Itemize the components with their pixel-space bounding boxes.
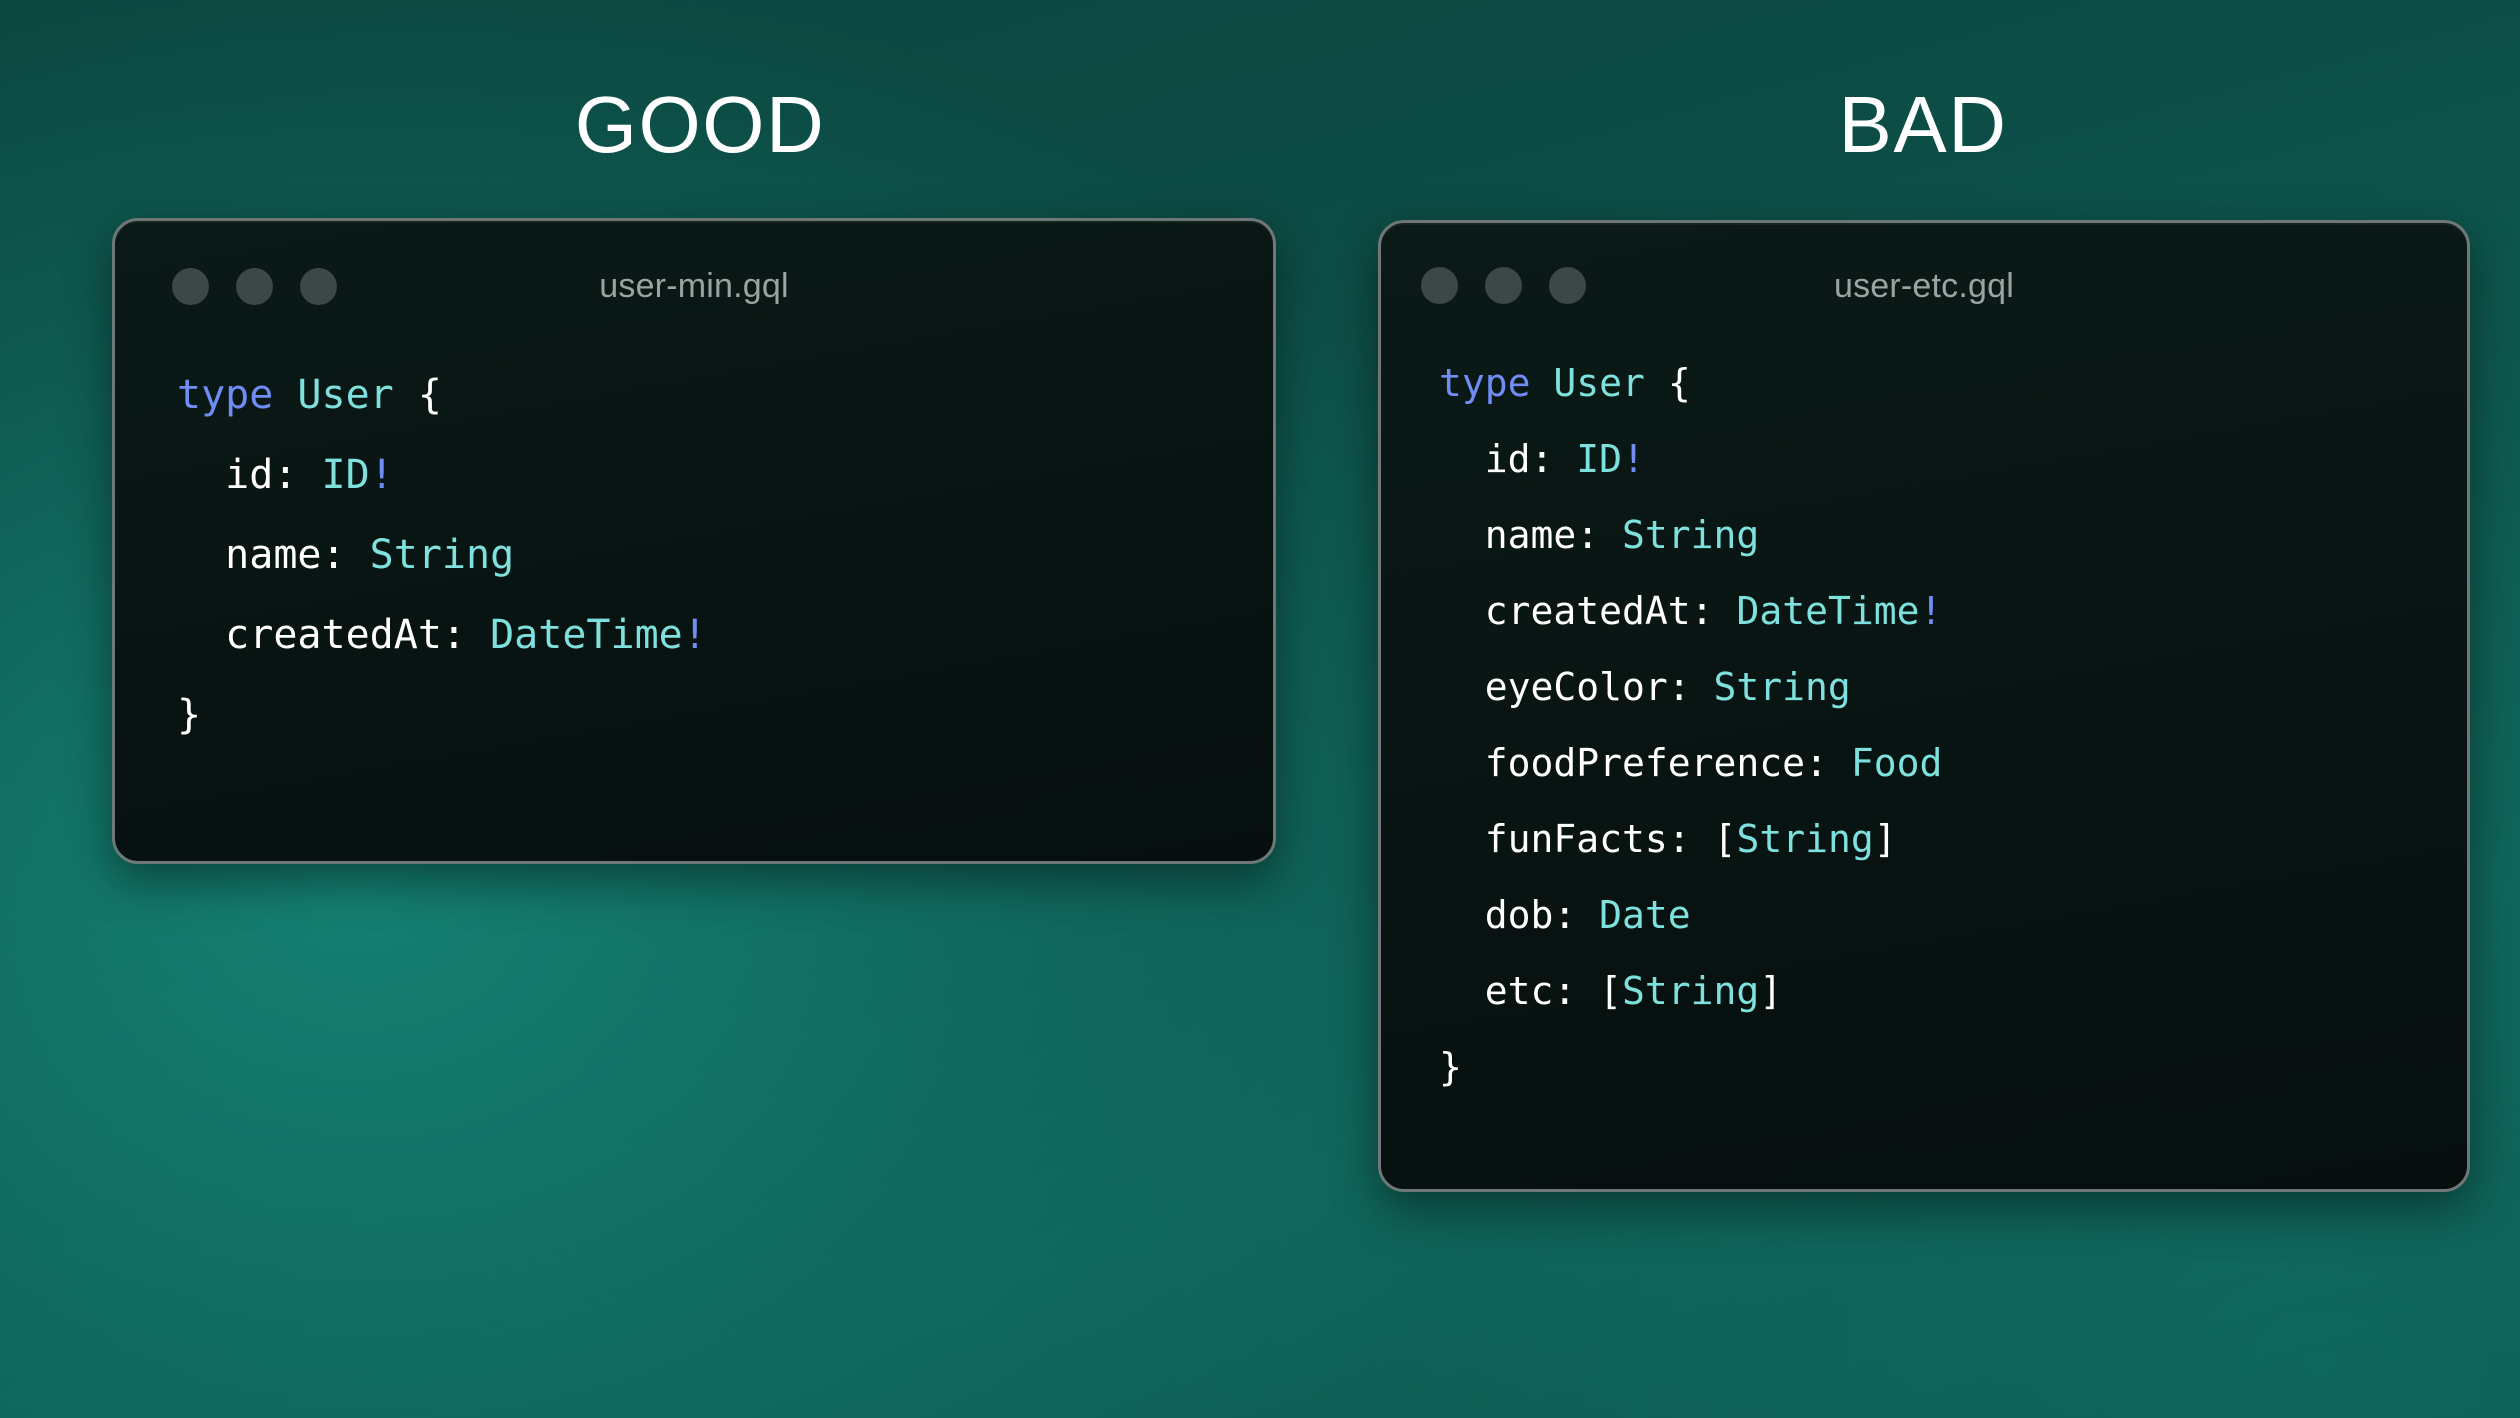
code-token-punct <box>273 372 297 418</box>
code-token-field: createdAt <box>177 612 442 658</box>
filename-label-bad: user-etc.gql <box>1381 269 2467 303</box>
code-line: } <box>1439 1029 2467 1105</box>
code-token-type: ID <box>1576 437 1622 481</box>
code-token-punct: ] <box>1759 969 1782 1013</box>
code-token-punct: : <box>322 532 370 578</box>
code-line: name: String <box>1439 497 2467 573</box>
code-line: id: ID! <box>1439 421 2467 497</box>
code-token-punct: : <box>1576 513 1622 557</box>
code-token-punct: } <box>177 692 201 738</box>
code-token-field: name <box>1439 513 1576 557</box>
column-heading-bad: BAD <box>1378 85 2468 165</box>
code-token-field: id <box>177 452 273 498</box>
code-token-punct: : <box>1691 589 1737 633</box>
code-token-type: String <box>1714 665 1851 709</box>
code-line: dob: Date <box>1439 877 2467 953</box>
code-line: id: ID! <box>177 435 1273 515</box>
code-line: createdAt: DateTime! <box>1439 573 2467 649</box>
code-token-bang: ! <box>683 612 707 658</box>
code-line: foodPreference: Food <box>1439 725 2467 801</box>
code-card-good: user-min.gql type User { id: ID! name: S… <box>112 218 1276 864</box>
code-token-punct: [ <box>1714 817 1737 861</box>
code-line: createdAt: DateTime! <box>177 595 1273 675</box>
code-token-field: createdAt <box>1439 589 1691 633</box>
code-line: eyeColor: String <box>1439 649 2467 725</box>
card-titlebar-good: user-min.gql <box>115 221 1273 333</box>
code-token-punct: ] <box>1874 817 1897 861</box>
code-token-field: dob <box>1439 893 1553 937</box>
code-token-type: Date <box>1599 893 1691 937</box>
card-titlebar-bad: user-etc.gql <box>1381 223 2467 335</box>
code-token-type: Food <box>1851 741 1943 785</box>
code-token-field: id <box>1439 437 1531 481</box>
code-token-type: User <box>297 372 393 418</box>
code-token-type: DateTime <box>1736 589 1919 633</box>
code-token-punct <box>394 372 418 418</box>
code-token-type: String <box>1622 969 1759 1013</box>
code-token-punct: } <box>1439 1045 1462 1089</box>
code-token-punct: : <box>273 452 321 498</box>
code-token-punct: { <box>418 372 442 418</box>
code-token-type: User <box>1553 361 1645 405</box>
code-token-bang: ! <box>1919 589 1942 633</box>
code-token-type: ID <box>322 452 370 498</box>
code-token-type: String <box>1622 513 1759 557</box>
code-token-punct: : <box>1805 741 1851 785</box>
code-token-kw: type <box>177 372 273 418</box>
code-token-bang: ! <box>370 452 394 498</box>
code-token-type: String <box>1736 817 1873 861</box>
code-token-field: name <box>177 532 322 578</box>
code-token-punct: { <box>1668 361 1691 405</box>
code-token-field: eyeColor <box>1439 665 1668 709</box>
code-block-good: type User { id: ID! name: String created… <box>115 333 1273 755</box>
code-token-kw: type <box>1439 361 1531 405</box>
slide-canvas: GOOD BAD user-min.gql type User { id: ID… <box>0 0 2520 1418</box>
code-token-type: DateTime <box>490 612 683 658</box>
code-token-punct: : <box>442 612 490 658</box>
code-token-bang: ! <box>1622 437 1645 481</box>
code-line: type User { <box>1439 345 2467 421</box>
code-card-bad: user-etc.gql type User { id: ID! name: S… <box>1378 220 2470 1192</box>
code-token-punct: : <box>1553 969 1599 1013</box>
code-token-punct <box>1645 361 1668 405</box>
code-token-punct: : <box>1553 893 1599 937</box>
code-token-type: String <box>370 532 515 578</box>
code-line: name: String <box>177 515 1273 595</box>
code-line: type User { <box>177 355 1273 435</box>
code-token-punct: [ <box>1599 969 1622 1013</box>
code-token-punct: : <box>1668 665 1714 709</box>
code-line: } <box>177 675 1273 755</box>
code-token-field: foodPreference <box>1439 741 1805 785</box>
code-token-field: etc <box>1439 969 1553 1013</box>
filename-label-good: user-min.gql <box>115 269 1273 303</box>
code-token-field: funFacts <box>1439 817 1668 861</box>
code-token-punct: : <box>1668 817 1714 861</box>
column-heading-good: GOOD <box>120 85 1280 165</box>
code-token-punct: : <box>1531 437 1577 481</box>
code-token-punct <box>1531 361 1554 405</box>
code-line: etc: [String] <box>1439 953 2467 1029</box>
code-line: funFacts: [String] <box>1439 801 2467 877</box>
code-block-bad: type User { id: ID! name: String created… <box>1381 335 2467 1105</box>
